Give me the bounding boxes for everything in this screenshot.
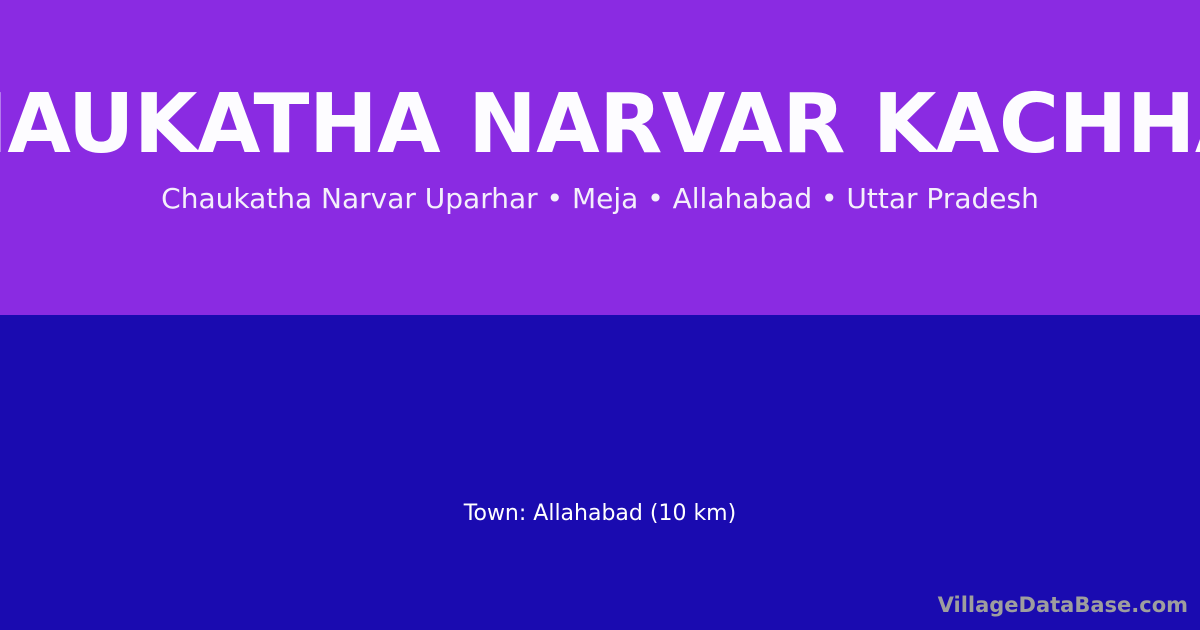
- header-banner: CHAUKATHA NARVAR KACHHAR Chaukatha Narva…: [0, 0, 1200, 315]
- nearest-town-stat: Town: Allahabad (10 km): [0, 500, 1200, 528]
- page-title: CHAUKATHA NARVAR KACHHAR: [0, 84, 1200, 166]
- body-panel: Town: Allahabad (10 km) VillageDataBase.…: [0, 315, 1200, 630]
- site-watermark: VillageDataBase.com: [938, 592, 1188, 618]
- breadcrumb: Chaukatha Narvar Uparhar • Meja • Allaha…: [0, 182, 1200, 216]
- village-info-card: CHAUKATHA NARVAR KACHHAR Chaukatha Narva…: [0, 0, 1200, 630]
